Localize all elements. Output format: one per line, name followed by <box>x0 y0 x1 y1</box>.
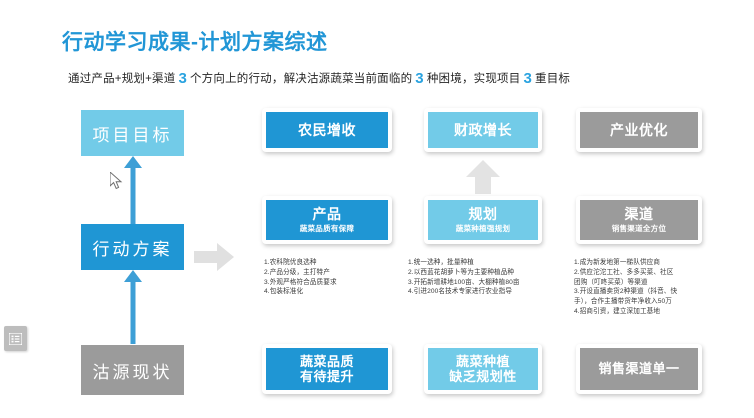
page-title: 行动学习成果-计划方案综述 <box>62 26 328 56</box>
problem-card-3[interactable]: 销售渠道单一 <box>576 344 702 394</box>
subtitle-number-1: 3 <box>175 70 190 87</box>
problem-card-2-line1: 蔬菜种植 <box>456 354 510 369</box>
action-card-2-title: 规划 <box>469 206 498 223</box>
problem-card-1-line2: 有待提升 <box>300 369 354 384</box>
action-card-2[interactable]: 规划 蔬菜种植强规划 <box>424 196 542 244</box>
goal-card-1[interactable]: 农民增收 <box>262 108 392 152</box>
goal-card-2[interactable]: 财政增长 <box>424 108 542 152</box>
subtitle-number-3: 3 <box>520 70 535 87</box>
problem-card-2[interactable]: 蔬菜种植 缺乏规划性 <box>424 344 542 394</box>
goal-card-1-label: 农民增收 <box>298 122 356 139</box>
problem-card-1[interactable]: 蔬菜品质 有待提升 <box>262 344 392 394</box>
bullet-list-1: 1.农科院优良选种 2.产品分级，主打特产 3.外观严格符合品质要求 4.包装标… <box>264 258 399 297</box>
mouse-cursor <box>110 172 123 190</box>
goal-card-3[interactable]: 产业优化 <box>576 108 702 152</box>
stage-label-goal[interactable]: 项目目标 <box>81 110 184 156</box>
stage-label-action[interactable]: 行动方案 <box>81 224 184 270</box>
goal-card-2-label: 财政增长 <box>454 122 512 139</box>
subtitle-part-2: 个方向上的行动，解决沽源蔬菜当前面临的 <box>190 73 412 85</box>
problem-card-3-line1: 销售渠道单一 <box>598 361 679 376</box>
action-card-1-title: 产品 <box>313 206 342 223</box>
subtitle-number-2: 3 <box>412 70 427 87</box>
action-card-2-sub: 蔬菜种植强规划 <box>456 225 511 234</box>
arrow-up-icon-plan <box>466 160 500 194</box>
subtitle-part-4: 重目标 <box>535 73 570 85</box>
page-subtitle: 通过产品+规划+渠道3个方向上的行动，解决沽源蔬菜当前面临的3种困境，实现项目3… <box>68 70 570 87</box>
subtitle-part-3: 种困境，实现项目 <box>427 73 521 85</box>
action-card-3[interactable]: 渠道 销售渠道全方位 <box>576 196 702 244</box>
stage-label-current[interactable]: 沽源现状 <box>81 345 184 395</box>
problem-card-2-line2: 缺乏规划性 <box>449 369 517 384</box>
action-card-3-sub: 销售渠道全方位 <box>612 225 667 234</box>
action-card-3-title: 渠道 <box>625 206 654 223</box>
arrow-up-icon-goal <box>124 156 142 224</box>
subtitle-part-1: 通过产品+规划+渠道 <box>68 73 175 85</box>
action-card-1[interactable]: 产品 蔬菜品质有保障 <box>262 196 392 244</box>
arrow-right-icon <box>194 243 234 271</box>
action-card-1-sub: 蔬菜品质有保障 <box>300 225 355 234</box>
goal-card-3-label: 产业优化 <box>610 122 668 139</box>
list-menu-icon[interactable] <box>4 326 27 351</box>
arrow-up-icon-action <box>124 270 142 344</box>
slide-canvas: 行动学习成果-计划方案综述 通过产品+规划+渠道3个方向上的行动，解决沽源蔬菜当… <box>0 0 754 418</box>
bullet-list-3: 1.成为新发地第一梯队供应商 2.供应沱沱工社、多多买菜、社区 团购（叮咚买菜）… <box>574 258 734 317</box>
bullet-list-2: 1.统一选种，批量种植 2.以西蓝花胡萝卜等为主要种植品种 3.开拓新增耕地10… <box>408 258 568 297</box>
problem-card-1-line1: 蔬菜品质 <box>300 354 354 369</box>
